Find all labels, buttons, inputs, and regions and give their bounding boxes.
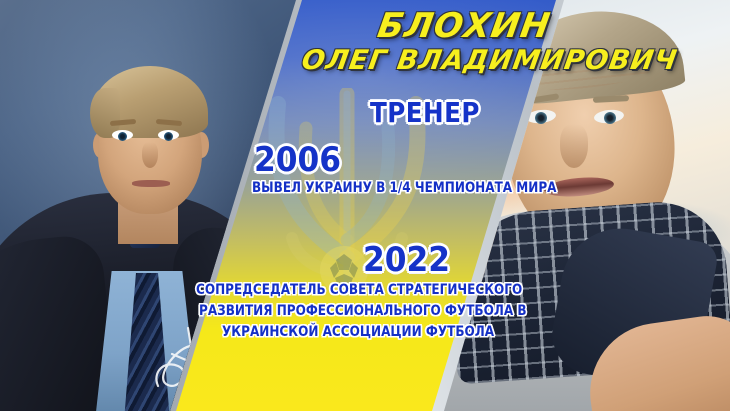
text-overlay: БЛОХИН ОЛЕГ ВЛАДИМИРОВИЧ ТРЕНЕР 2006 ВЫВ… xyxy=(0,0,730,411)
fact-2022-line-3: УКРАИНСКОЙ АССОЦИАЦИИ ФУТБОЛА xyxy=(222,324,494,340)
title-surname: БЛОХИН xyxy=(375,6,554,46)
title-given-patronymic: ОЛЕГ ВЛАДИМИРОВИЧ xyxy=(300,45,680,76)
role-label: ТРЕНЕР xyxy=(370,96,480,129)
fact-2022-line-1: СОПРЕДСЕДАТЕЛЬ СОВЕТА СТРАТЕГИЧЕСКОГО xyxy=(196,282,522,298)
fact-2022-line-2: РАЗВИТИЯ ПРОФЕССИОНАЛЬНОГО ФУТБОЛА В xyxy=(199,303,527,319)
year-2022: 2022 xyxy=(363,240,450,280)
thumbnail-canvas: БЛОХИН ОЛЕГ ВЛАДИМИРОВИЧ ТРЕНЕР 2006 ВЫВ… xyxy=(0,0,730,411)
fact-2006-line-1: ВЫВЕЛ УКРАИНУ В 1/4 ЧЕМПИОНАТА МИРА xyxy=(252,180,556,196)
year-2006: 2006 xyxy=(254,140,341,180)
